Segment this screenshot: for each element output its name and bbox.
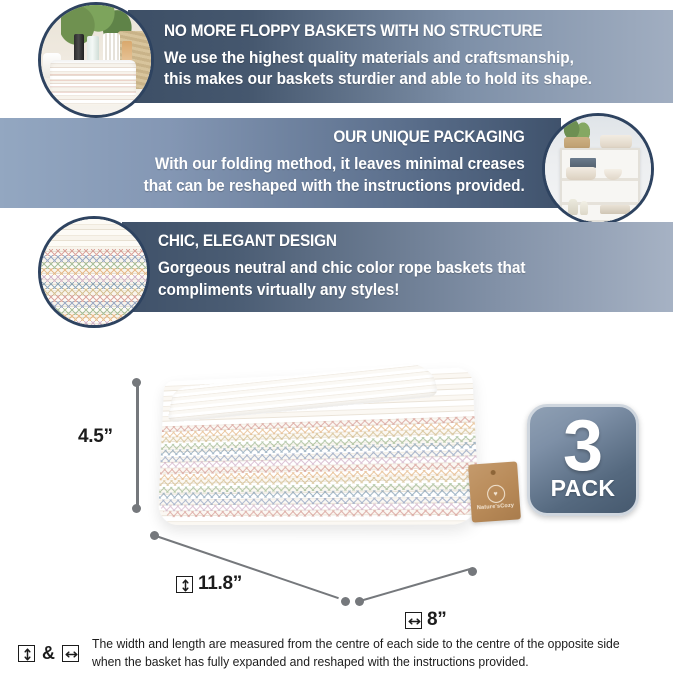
brand-logo-icon: ♥ (486, 484, 505, 503)
bottom-shelf-tray (600, 205, 630, 213)
photo-content (41, 5, 151, 115)
hang-tag: ♥ Nature'sCozy (468, 461, 521, 522)
banner-body-line-1: With our folding method, it leaves minim… (155, 154, 525, 176)
feature-banner-design: CHIC, ELEGANT DESIGN Gorgeous neutral an… (122, 222, 673, 312)
banner-title: OUR UNIQUE PACKAGING (334, 128, 525, 147)
zigzag-row (38, 321, 150, 328)
zigzag-row (158, 510, 480, 518)
length-dimension-label-group: 11.8” (176, 573, 242, 595)
basket-top-shelf (600, 135, 632, 149)
basket-with-toiletries-photo (38, 2, 154, 118)
width-dimension-line (360, 568, 472, 602)
horizontal-arrow-icon (405, 612, 422, 629)
height-dimension-dot-top (132, 378, 141, 387)
horizontal-arrow-icon (62, 645, 79, 662)
black-dispenser-bottle (74, 34, 84, 63)
length-dimension-dot-inner (341, 597, 350, 606)
vase-right (580, 201, 588, 215)
pack-count-badge: 3 PACK (527, 404, 639, 516)
width-dimension-value: 8” (427, 609, 446, 631)
banner-body-line-2: this makes our baskets sturdier and able… (164, 69, 621, 91)
vertical-arrow-icon (176, 576, 193, 593)
rope-basket (50, 60, 136, 106)
width-dimension-dot-outer (468, 567, 477, 576)
width-dimension-dot-inner (355, 597, 364, 606)
measurement-footnote: & The width and length are measured from… (18, 636, 636, 672)
white-rope-basket-photo (152, 372, 470, 524)
photo-content (41, 219, 147, 325)
pack-count-number: 3 (563, 416, 603, 476)
banner-body-line-1: Gorgeous neutral and chic color rope bas… (158, 258, 620, 280)
height-dimension-line (136, 385, 139, 509)
pack-count-label: PACK (551, 477, 616, 500)
height-dimension-label: 4.5” (78, 426, 113, 448)
footnote-line-2: when the basket has fully expanded and r… (92, 655, 529, 669)
hang-tag-hole (490, 470, 495, 475)
footnote-ampersand: & (42, 643, 55, 664)
feature-banner-packaging: OUR UNIQUE PACKAGING With our folding me… (0, 118, 561, 208)
shelf-with-baskets-photo (542, 113, 654, 225)
banner-body-line-2: that can be reshaped with the instructio… (144, 176, 525, 198)
vase-left (568, 199, 578, 215)
basket-zigzag-stitching (158, 416, 480, 519)
height-dimension-dot-bottom (132, 504, 141, 513)
length-dimension-dot-outer (150, 531, 159, 540)
length-dimension-value: 11.8” (198, 573, 242, 595)
banner-body-line-2: compliments virtually any styles! (158, 280, 620, 302)
footnote-text: The width and length are measured from t… (92, 636, 620, 672)
basket-middle-shelf (566, 167, 596, 180)
banner-body-line-1: We use the highest quality materials and… (164, 48, 621, 70)
photo-content (545, 116, 651, 222)
brand-name: Nature'sCozy (471, 502, 520, 511)
vertical-arrow-icon (18, 645, 35, 662)
banner-title: NO MORE FLOPPY BASKETS WITH NO STRUCTURE (164, 22, 621, 41)
banner-title: CHIC, ELEGANT DESIGN (158, 232, 620, 251)
rope-texture-closeup-photo (38, 216, 150, 328)
feature-banner-structure: NO MORE FLOPPY BASKETS WITH NO STRUCTURE… (128, 10, 673, 103)
footnote-line-1: The width and length are measured from t… (92, 637, 620, 651)
width-dimension-label-group: 8” (405, 609, 446, 631)
